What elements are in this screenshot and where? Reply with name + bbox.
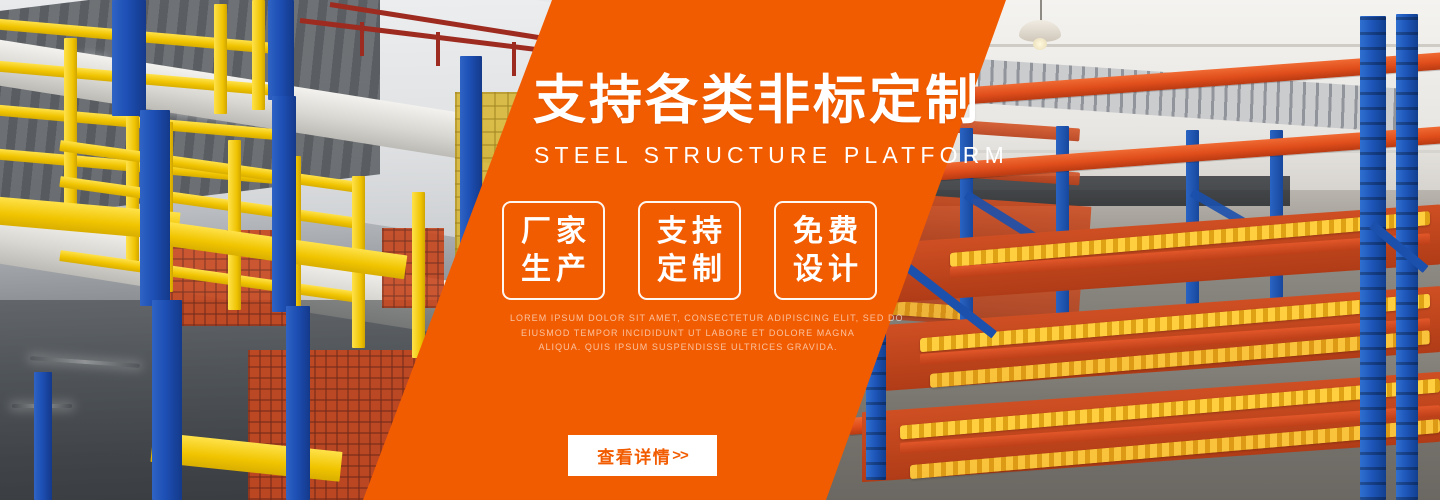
feature-badge-manufacturer: 厂家 生产 (502, 201, 605, 300)
description-line-1: LOREM IPSUM DOLOR SIT AMET, CONSECTETUR … (510, 311, 866, 326)
badge-line-2: 生产 (516, 252, 591, 287)
description-text: LOREM IPSUM DOLOR SIT AMET, CONSECTETUR … (510, 311, 866, 355)
banner-content: 支持各类非标定制 STEEL STRUCTURE PLATFORM 厂家 生产 … (0, 0, 1440, 500)
badge-line-1: 免费 (788, 214, 863, 249)
page-title: 支持各类非标定制 (533, 74, 981, 127)
feature-badge-customization: 支持 定制 (638, 201, 741, 300)
description-line-2: EIUSMOD TEMPOR INCIDIDUNT UT LABORE ET D… (510, 326, 866, 341)
view-details-label: 查看详情 (597, 443, 671, 468)
view-details-button[interactable]: 查看详情 >> (568, 435, 717, 476)
badge-line-1: 厂家 (516, 214, 591, 249)
feature-badge-free-design: 免费 设计 (774, 201, 877, 300)
badge-line-2: 设计 (788, 252, 863, 287)
subtitle: STEEL STRUCTURE PLATFORM (534, 144, 1009, 167)
badge-line-1: 支持 (652, 214, 727, 249)
feature-badge-group: 厂家 生产 支持 定制 免费 设计 (502, 201, 877, 300)
description-line-3: ALIQUA. QUIS IPSUM SUSPENDISSE ULTRICES … (510, 340, 866, 355)
promo-banner: 支持各类非标定制 STEEL STRUCTURE PLATFORM 厂家 生产 … (0, 0, 1440, 500)
double-chevron-right-icon: >> (672, 447, 688, 464)
badge-line-2: 定制 (652, 252, 727, 287)
